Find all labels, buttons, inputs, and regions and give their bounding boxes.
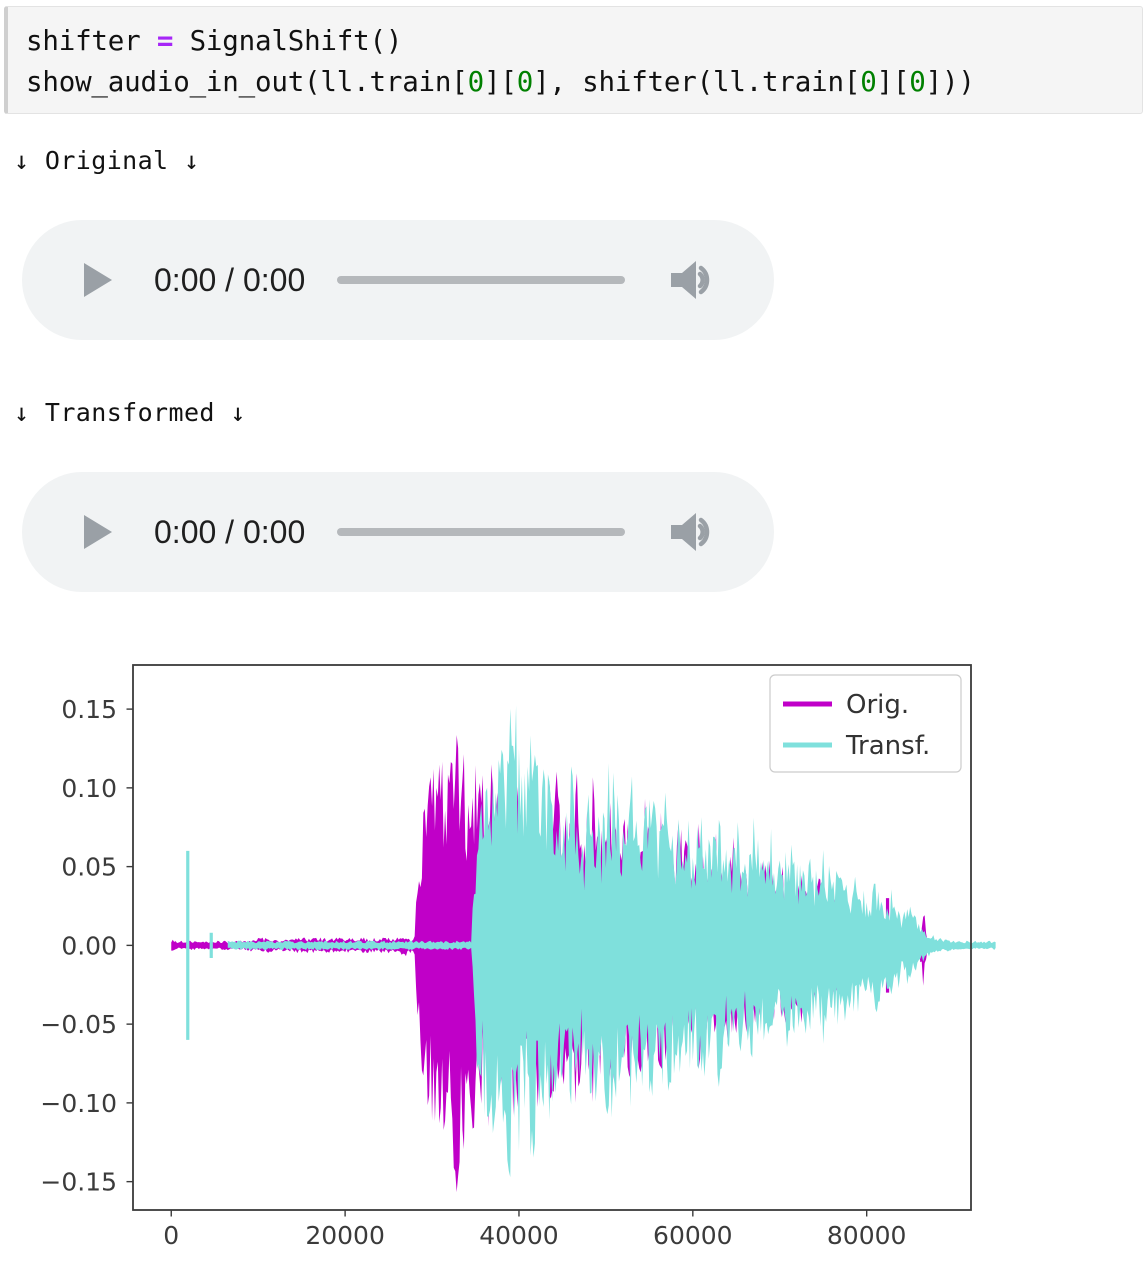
notebook-output-page: shifter = SignalShift() show_audio_in_ou… — [0, 0, 1147, 1266]
code-token-num: 0 — [860, 66, 876, 98]
play-icon[interactable] — [70, 252, 126, 308]
speaker-icon-svg — [667, 257, 719, 303]
x-tick-label: 40000 — [479, 1221, 559, 1250]
audio-player-original[interactable]: 0:00 / 0:00 — [22, 220, 774, 340]
audio-time-display: 0:00 / 0:00 — [154, 262, 305, 299]
code-token-plain: ])) — [926, 66, 975, 98]
original-section-label: ↓ Original ↓ — [14, 146, 199, 175]
y-tick-label: 0.00 — [61, 931, 117, 960]
play-icon[interactable] — [70, 504, 126, 560]
code-token-plain: show_audio_in_out(ll.train[ — [26, 66, 468, 98]
code-token-num: 0 — [468, 66, 484, 98]
code-token-num: 0 — [909, 66, 925, 98]
y-tick-label: 0.05 — [61, 853, 117, 882]
waveform-figure: 0200004000060000800000.150.100.050.00−0.… — [0, 636, 1010, 1266]
code-token-plain: shifter — [26, 25, 157, 57]
code-token-plain: ][ — [877, 66, 910, 98]
y-tick-label: −0.15 — [40, 1168, 117, 1197]
y-tick-label: −0.10 — [40, 1089, 117, 1118]
x-tick-label: 80000 — [827, 1221, 907, 1250]
y-tick-label: 0.15 — [61, 695, 117, 724]
volume-icon[interactable] — [663, 253, 723, 307]
legend-label: Orig. — [846, 690, 909, 720]
legend-label: Transf. — [845, 731, 930, 761]
speaker-icon-svg — [667, 509, 719, 555]
x-tick-label: 20000 — [305, 1221, 385, 1250]
code-cell[interactable]: shifter = SignalShift() show_audio_in_ou… — [4, 6, 1143, 114]
code-token-op: = — [157, 25, 173, 57]
code-line-2: show_audio_in_out(ll.train[0][0], shifte… — [26, 62, 1142, 103]
waveform-chart: 0200004000060000800000.150.100.050.00−0.… — [0, 636, 1010, 1266]
y-tick-label: 0.10 — [61, 774, 117, 803]
code-token-plain: SignalShift() — [173, 25, 402, 57]
code-line-1: shifter = SignalShift() — [26, 21, 1142, 62]
play-triangle — [84, 263, 112, 297]
code-token-num: 0 — [517, 66, 533, 98]
audio-progress-slider[interactable] — [337, 528, 625, 536]
transformed-section-label: ↓ Transformed ↓ — [14, 398, 246, 427]
audio-progress-slider[interactable] — [337, 276, 625, 284]
chart-legend: Orig.Transf. — [770, 675, 961, 772]
y-tick-label: −0.05 — [40, 1010, 117, 1039]
play-triangle — [84, 515, 112, 549]
audio-time-display: 0:00 / 0:00 — [154, 514, 305, 551]
code-token-plain: ], shifter(ll.train[ — [533, 66, 860, 98]
x-tick-label: 60000 — [653, 1221, 733, 1250]
volume-icon[interactable] — [663, 505, 723, 559]
audio-player-transformed[interactable]: 0:00 / 0:00 — [22, 472, 774, 592]
code-token-plain: ][ — [484, 66, 517, 98]
x-tick-label: 0 — [163, 1221, 179, 1250]
